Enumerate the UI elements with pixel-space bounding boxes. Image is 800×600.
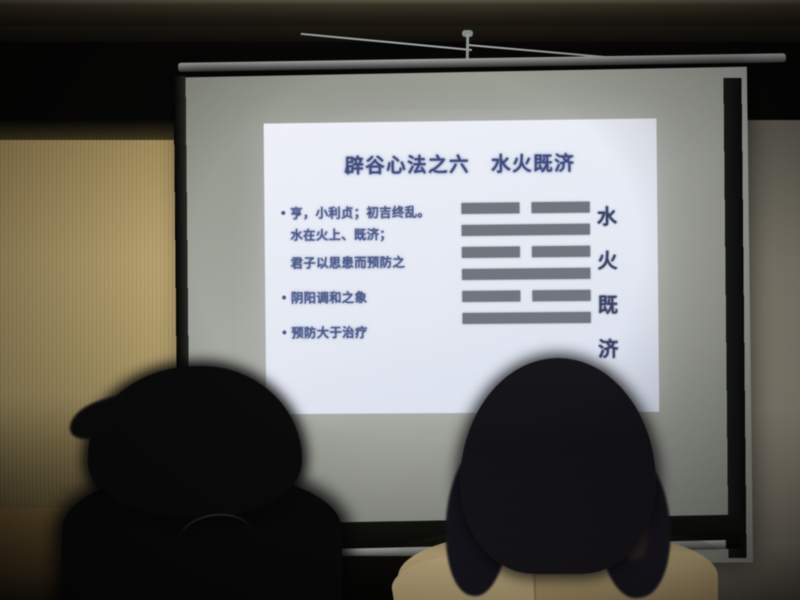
foreground-dark-band [140,556,600,600]
left-desk-surface [0,508,140,600]
hexagram-segment [461,202,519,214]
hexagram-segment [532,246,591,258]
hexagram-line-4 [462,246,590,258]
bullet-text: 预防大于治疗 [291,323,367,344]
vertical-char: 水 [597,205,617,228]
hexagram-segment [462,246,520,258]
hexagram-segment [462,312,590,324]
bullet-dot-icon [282,296,286,300]
vertical-char: 火 [597,249,617,272]
bullet-dot-icon [281,211,285,215]
hexagram-line-3 [462,268,590,280]
bullet-text: 亨，小利贞；初吉终乱。 [290,202,430,223]
hexagram-segment [462,290,520,302]
projected-slide: 辟谷心法之六 水火既济 亨，小利贞；初吉终乱。 水在火上、既济； 君子以思患而预… [264,118,660,414]
bullet-item-4: 阴阳调和之象 [282,287,481,309]
bullet-item-3: 君子以思患而预防之 [282,252,481,274]
hexagram-line-2 [462,290,590,302]
hexagram-segment [532,290,591,302]
photo-scene: 辟谷心法之六 水火既济 亨，小利贞；初吉终乱。 水在火上、既济； 君子以思患而预… [0,0,800,600]
bullet-item-2: 水在火上、既济； [281,224,480,246]
bullet-item-5: 预防大于治疗 [282,322,481,344]
bullet-item-1: 亨，小利贞；初吉终乱。 [281,202,480,224]
bullet-text: 水在火上、既济； [290,225,392,246]
bullet-text: 阴阳调和之象 [291,288,367,309]
slide-title: 辟谷心法之六 水火既济 [264,146,657,180]
bullet-text: 君子以思患而预防之 [291,253,406,274]
hexagram-line-1 [462,312,590,324]
ceiling-highlight [0,0,800,5]
hexagram-segment [531,202,590,214]
hexagram-line-5 [462,224,590,236]
hexagram-segment [462,224,590,236]
vertical-char: 既 [598,294,618,317]
vertical-char: 济 [598,338,618,361]
slide-bullet-list: 亨，小利贞；初吉终乱。 水在火上、既济； 君子以思患而预防之 阴阳调和之象 预防… [281,202,482,346]
hexagram-line-6 [461,202,589,214]
hexagram-jiji-diagram [461,202,591,335]
hexagram-segment [462,268,590,280]
vertical-label-group: 水 火 既 济 [597,205,619,382]
bullet-dot-icon [282,330,286,334]
